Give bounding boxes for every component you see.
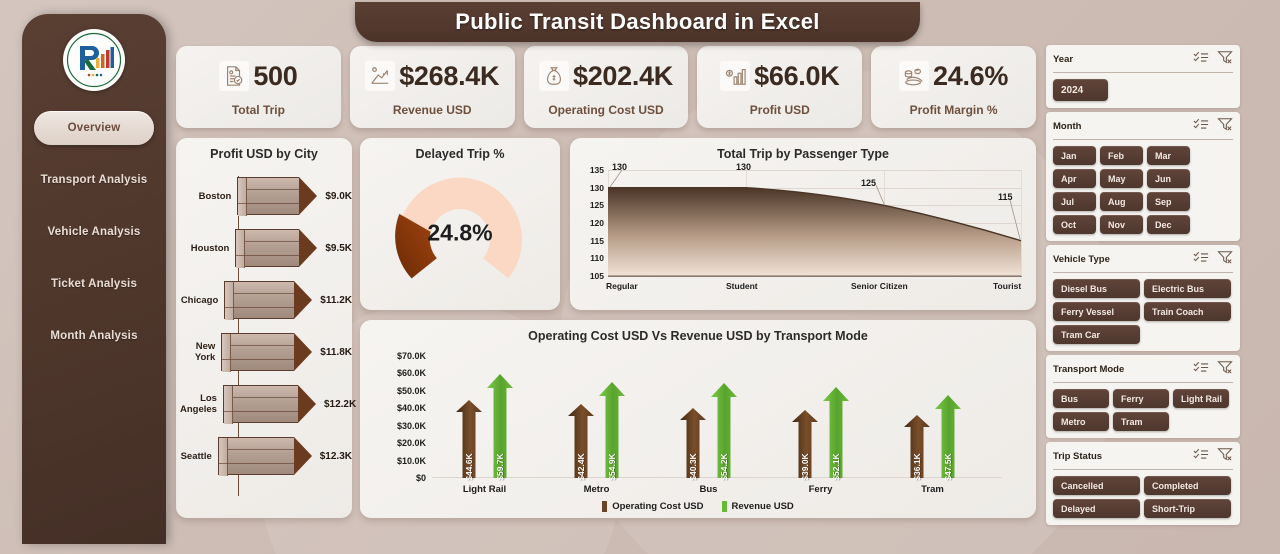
chart-legend: Operating Cost USD Revenue USD: [360, 501, 1036, 512]
chart-row: Houston $9.5K: [176, 222, 352, 274]
sidebar-item-month-analysis[interactable]: Month Analysis: [34, 319, 154, 353]
x-axis-tick: Student: [726, 281, 758, 291]
y-axis-tick: 125: [590, 200, 604, 210]
kpi-value: 24.6%: [933, 61, 1008, 92]
kpi-label: Operating Cost USD: [524, 103, 689, 117]
sidebar-item-transport-analysis[interactable]: Transport Analysis: [34, 163, 154, 197]
slicer-title: Month: [1053, 121, 1082, 132]
sidebar-item-label: Ticket Analysis: [51, 278, 137, 290]
slicer-option-dec[interactable]: Dec: [1147, 215, 1190, 234]
slicer-option-label: Apr: [1061, 174, 1077, 184]
multi-select-icon[interactable]: [1193, 118, 1209, 136]
slicer-option-label: Dec: [1155, 220, 1172, 230]
coins-stack-icon: [899, 61, 929, 91]
x-axis-tick: Metro: [584, 484, 610, 495]
bar-revenue[interactable]: $54.2K: [711, 383, 737, 478]
sidebar-item-label: Overview: [68, 122, 121, 134]
slicer-option-label: Jun: [1155, 174, 1171, 184]
x-axis-tick: Light Rail: [463, 484, 506, 495]
x-axis-tick: Senior Citizen: [851, 281, 908, 291]
slicer-month: Month Jan Feb Mar Apr May Jun: [1046, 112, 1240, 241]
category-label: Houston: [180, 243, 235, 254]
bar-revenue[interactable]: $47.5K: [935, 395, 961, 478]
logo-icon: [63, 29, 125, 91]
y-axis-tick: 135: [590, 165, 604, 175]
kpi-label: Revenue USD: [350, 103, 515, 117]
bar-value-label: $47.5K: [943, 453, 953, 480]
slicer-option-label: Cancelled: [1061, 481, 1104, 491]
value-label: $9.5K: [325, 243, 352, 254]
clear-filter-icon[interactable]: [1217, 360, 1233, 379]
legend-item-operating-cost: Operating Cost USD: [602, 501, 703, 512]
bar-revenue[interactable]: $59.7K: [487, 374, 513, 478]
slicer-option-apr[interactable]: Apr: [1053, 169, 1096, 188]
kpi-card-total-trip: 500 Total Trip: [176, 46, 341, 128]
slicer-option-jan[interactable]: Jan: [1053, 146, 1096, 165]
slicer-option-jul[interactable]: Jul: [1053, 192, 1096, 211]
slicer-option-label: Light Rail: [1181, 394, 1222, 404]
y-axis-tick: $0: [416, 473, 426, 483]
slicer-option-label: Tram Car: [1061, 330, 1100, 340]
bar-operating-cost[interactable]: $36.1K: [904, 415, 930, 478]
category-label: Seattle: [180, 451, 218, 462]
chart-row: Boston $9.0K: [176, 170, 352, 222]
slicer-option-label: Metro: [1061, 417, 1086, 427]
gauge-value-label: 24.8%: [427, 219, 492, 246]
slicer-option-bus[interactable]: Bus: [1053, 389, 1109, 408]
value-label: $11.8K: [320, 347, 352, 358]
slicer-option-label: Mar: [1155, 151, 1171, 161]
slicer-trip-status: Trip Status Cancelled Completed Delayed …: [1046, 442, 1240, 525]
revenue-chart-icon: [365, 61, 395, 91]
multi-select-icon[interactable]: [1193, 361, 1209, 379]
x-axis-tick: Regular: [606, 281, 638, 291]
chart-title: Profit USD by City: [176, 138, 352, 161]
x-axis-tick: Ferry: [809, 484, 833, 495]
bar-value-label: $44.6K: [464, 453, 474, 480]
multi-select-icon[interactable]: [1193, 448, 1209, 466]
multi-select-icon[interactable]: [1193, 251, 1209, 269]
slicer-option-label: Bus: [1061, 394, 1078, 404]
chart-title: Delayed Trip %: [360, 138, 560, 161]
slicer-option-2024[interactable]: 2024: [1053, 79, 1108, 101]
bar-value-label: $52.1K: [831, 453, 841, 480]
chart-title: Operating Cost USD Vs Revenue USD by Tra…: [360, 320, 1036, 343]
slicer-option-jun[interactable]: Jun: [1147, 169, 1190, 188]
slicer-option-delayed[interactable]: Delayed: [1053, 499, 1140, 518]
bar-chart-plot: $0 $10.0K $20.0K $30.0K $40.0K $50.0K $6…: [432, 356, 1002, 478]
kpi-card-operating-cost-usd: $202.4K Operating Cost USD: [524, 46, 689, 128]
chart-row: Chicago $11.2K: [176, 274, 352, 326]
logo: [63, 29, 125, 91]
chart-title: Total Trip by Passenger Type: [570, 138, 1036, 161]
slicer-option-tram[interactable]: Tram: [1113, 412, 1169, 431]
slicer-option-feb[interactable]: Feb: [1100, 146, 1143, 165]
slicer-option-label: Tram: [1121, 417, 1143, 427]
bar-group: $39.0K $52.1K Ferry: [792, 387, 849, 478]
chart-row: New York $11.8K: [176, 326, 352, 378]
kpi-value: 500: [253, 61, 297, 92]
category-label: Chicago: [180, 295, 224, 306]
chart-cost-vs-revenue: Operating Cost USD Vs Revenue USD by Tra…: [360, 320, 1036, 518]
bar-value-label: $40.3K: [688, 453, 698, 480]
value-label: $11.2K: [320, 295, 352, 306]
slicer-option-label: Short-Trip: [1152, 504, 1195, 514]
bar-group: $44.6K $59.7K Light Rail: [456, 374, 513, 478]
bar-value-label: $54.9K: [607, 453, 617, 480]
value-label: $12.2K: [324, 399, 356, 410]
chart-row: Seattle $12.3K: [176, 430, 352, 482]
kpi-card-profit-margin: 24.6% Profit Margin %: [871, 46, 1036, 128]
sidebar-item-label: Vehicle Analysis: [48, 226, 141, 238]
slicer-option-metro[interactable]: Metro: [1053, 412, 1109, 431]
invoice-check-icon: [219, 61, 249, 91]
bar-operating-cost[interactable]: $40.3K: [680, 408, 706, 478]
kpi-value: $268.4K: [399, 61, 499, 92]
y-axis-tick: $10.0K: [397, 456, 426, 466]
slicer-option-sep[interactable]: Sep: [1147, 192, 1190, 211]
slicer-option-completed[interactable]: Completed: [1144, 476, 1231, 495]
slicer-option-label: Sep: [1155, 197, 1172, 207]
filter-panel: Year 2024 Month: [1046, 45, 1240, 520]
bar-value-label: $36.1K: [912, 453, 922, 480]
slicer-title: Vehicle Type: [1053, 254, 1110, 265]
slicer-option-electric-bus[interactable]: Electric Bus: [1144, 279, 1231, 298]
slicer-option-short-trip[interactable]: Short-Trip: [1144, 499, 1231, 518]
data-label: 115: [998, 192, 1013, 202]
slicer-option-label: Feb: [1108, 151, 1124, 161]
clear-filter-icon[interactable]: [1217, 50, 1233, 69]
slicer-option-oct[interactable]: Oct: [1053, 215, 1096, 234]
sidebar-item-vehicle-analysis[interactable]: Vehicle Analysis: [34, 215, 154, 249]
x-axis-tick: Bus: [700, 484, 718, 495]
category-label: New York: [180, 341, 221, 363]
y-axis-tick: 105: [590, 271, 604, 281]
chart-total-trip-by-passenger-type: Total Trip by Passenger Type 135 130 125…: [570, 138, 1036, 310]
clear-filter-icon[interactable]: [1217, 117, 1233, 136]
slicer-option-nov[interactable]: Nov: [1100, 215, 1143, 234]
kpi-row: 500 Total Trip $268.4K Revenue USD $20: [176, 46, 1036, 128]
slicer-option-label: Oct: [1061, 220, 1076, 230]
bar-group: $40.3K $54.2K Bus: [680, 383, 737, 478]
slicer-option-cancelled[interactable]: Cancelled: [1053, 476, 1140, 495]
kpi-card-profit-usd: $66.0K Profit USD: [697, 46, 862, 128]
area-chart-plot: 135 130 125 120 115 110 105 130 130 125: [608, 170, 1022, 276]
bar-revenue[interactable]: $52.1K: [823, 387, 849, 478]
chart-profit-by-city: Profit USD by City Boston $9.0K Houston …: [176, 138, 352, 518]
chart-row: Los Angeles $12.2K: [176, 378, 352, 430]
legend-swatch: [722, 501, 727, 512]
sidebar: Overview Transport Analysis Vehicle Anal…: [22, 14, 166, 544]
slicer-option-mar[interactable]: Mar: [1147, 146, 1190, 165]
legend-swatch: [602, 501, 607, 512]
kpi-label: Profit Margin %: [871, 103, 1036, 117]
kpi-value: $202.4K: [573, 61, 673, 92]
bar-operating-cost[interactable]: $44.6K: [456, 400, 482, 478]
y-axis-tick: $70.0K: [397, 351, 426, 361]
y-axis-tick: $30.0K: [397, 421, 426, 431]
kpi-card-revenue-usd: $268.4K Revenue USD: [350, 46, 515, 128]
dashboard-title-bar: Public Transit Dashboard in Excel: [355, 2, 920, 42]
slicer-title: Year: [1053, 54, 1073, 65]
slicer-option-label: Ferry: [1121, 394, 1144, 404]
x-axis-tick: Tourist: [993, 281, 1021, 291]
legend-label: Operating Cost USD: [612, 501, 703, 512]
clear-filter-icon[interactable]: [1217, 447, 1233, 466]
slicer-option-label: Ferry Vessel: [1061, 307, 1114, 317]
slicer-option-label: Completed: [1152, 481, 1199, 491]
data-label: 125: [861, 178, 876, 188]
slicer-option-label: Jan: [1061, 151, 1077, 161]
y-axis-tick: 110: [590, 253, 604, 263]
legend-item-revenue: Revenue USD: [722, 501, 794, 512]
slicer-option-label: Diesel Bus: [1061, 284, 1107, 294]
slicer-vehicle-type: Vehicle Type Diesel Bus Electric Bus Fer…: [1046, 245, 1240, 351]
category-label: Los Angeles: [180, 393, 223, 415]
slicer-year: Year 2024: [1046, 45, 1240, 108]
bar-value-label: $59.7K: [495, 453, 505, 480]
profit-growth-icon: [720, 61, 750, 91]
data-label: 130: [612, 162, 627, 172]
slicer-option-train-coach[interactable]: Train Coach: [1144, 302, 1231, 321]
y-axis-tick: 115: [590, 236, 604, 246]
slicer-option-diesel-bus[interactable]: Diesel Bus: [1053, 279, 1140, 298]
x-axis-tick: Tram: [921, 484, 944, 495]
slicer-option-aug[interactable]: Aug: [1100, 192, 1143, 211]
slicer-option-label: 2024: [1061, 85, 1083, 96]
slicer-option-may[interactable]: May: [1100, 169, 1143, 188]
sidebar-item-label: Transport Analysis: [41, 174, 148, 186]
bar-group: $36.1K $47.5K Tram: [904, 395, 961, 478]
bar-value-label: $39.0K: [800, 453, 810, 480]
gauge: 24.8%: [360, 160, 560, 300]
kpi-value: $66.0K: [754, 61, 839, 92]
city-chart-rows: Boston $9.0K Houston $9.5K Chicago: [176, 170, 352, 510]
y-axis-tick: 120: [590, 218, 604, 228]
y-axis-tick: $40.0K: [397, 403, 426, 413]
bar-group: $42.4K $54.9K Metro: [568, 382, 625, 478]
slicer-option-label: Aug: [1108, 197, 1126, 207]
y-axis-tick: $20.0K: [397, 438, 426, 448]
slicer-option-ferry-vessel[interactable]: Ferry Vessel: [1053, 302, 1140, 321]
y-axis-tick: $60.0K: [397, 368, 426, 378]
legend-label: Revenue USD: [732, 501, 794, 512]
value-label: $9.0K: [325, 191, 352, 202]
slicer-option-label: May: [1108, 174, 1126, 184]
sidebar-item-ticket-analysis[interactable]: Ticket Analysis: [34, 267, 154, 301]
kpi-label: Profit USD: [697, 103, 862, 117]
bar-value-label: $42.4K: [576, 453, 586, 480]
slicer-title: Trip Status: [1053, 451, 1102, 462]
clear-filter-icon[interactable]: [1217, 250, 1233, 269]
y-axis-tick: $50.0K: [397, 386, 426, 396]
slicer-option-light-rail[interactable]: Light Rail: [1173, 389, 1229, 408]
slicer-option-label: Electric Bus: [1152, 284, 1204, 294]
bar-operating-cost[interactable]: $42.4K: [568, 404, 594, 478]
sidebar-nav: Overview Transport Analysis Vehicle Anal…: [22, 111, 166, 371]
slicer-transport-mode: Transport Mode Bus Ferry Light Rail Metr…: [1046, 355, 1240, 438]
bar-operating-cost[interactable]: $39.0K: [792, 410, 818, 478]
slicer-title: Transport Mode: [1053, 364, 1124, 375]
bar-revenue[interactable]: $54.9K: [599, 382, 625, 478]
y-axis-tick: 130: [590, 183, 604, 193]
slicer-option-tram-car[interactable]: Tram Car: [1053, 325, 1140, 344]
money-bag-icon: [539, 61, 569, 91]
sidebar-item-overview[interactable]: Overview: [34, 111, 154, 145]
value-label: $12.3K: [320, 451, 352, 462]
slicer-option-label: Nov: [1108, 220, 1125, 230]
slicer-option-label: Jul: [1061, 197, 1074, 207]
slicer-option-ferry[interactable]: Ferry: [1113, 389, 1169, 408]
category-label: Boston: [180, 191, 237, 202]
sidebar-item-label: Month Analysis: [50, 330, 137, 342]
chart-delayed-trip-gauge: Delayed Trip % 24.8%: [360, 138, 560, 310]
page-title: Public Transit Dashboard in Excel: [455, 9, 819, 35]
slicer-option-label: Train Coach: [1152, 307, 1204, 317]
bar-value-label: $54.2K: [719, 453, 729, 480]
slicer-option-label: Delayed: [1061, 504, 1096, 514]
kpi-label: Total Trip: [176, 103, 341, 117]
data-label: 130: [736, 162, 751, 172]
multi-select-icon[interactable]: [1193, 51, 1209, 69]
